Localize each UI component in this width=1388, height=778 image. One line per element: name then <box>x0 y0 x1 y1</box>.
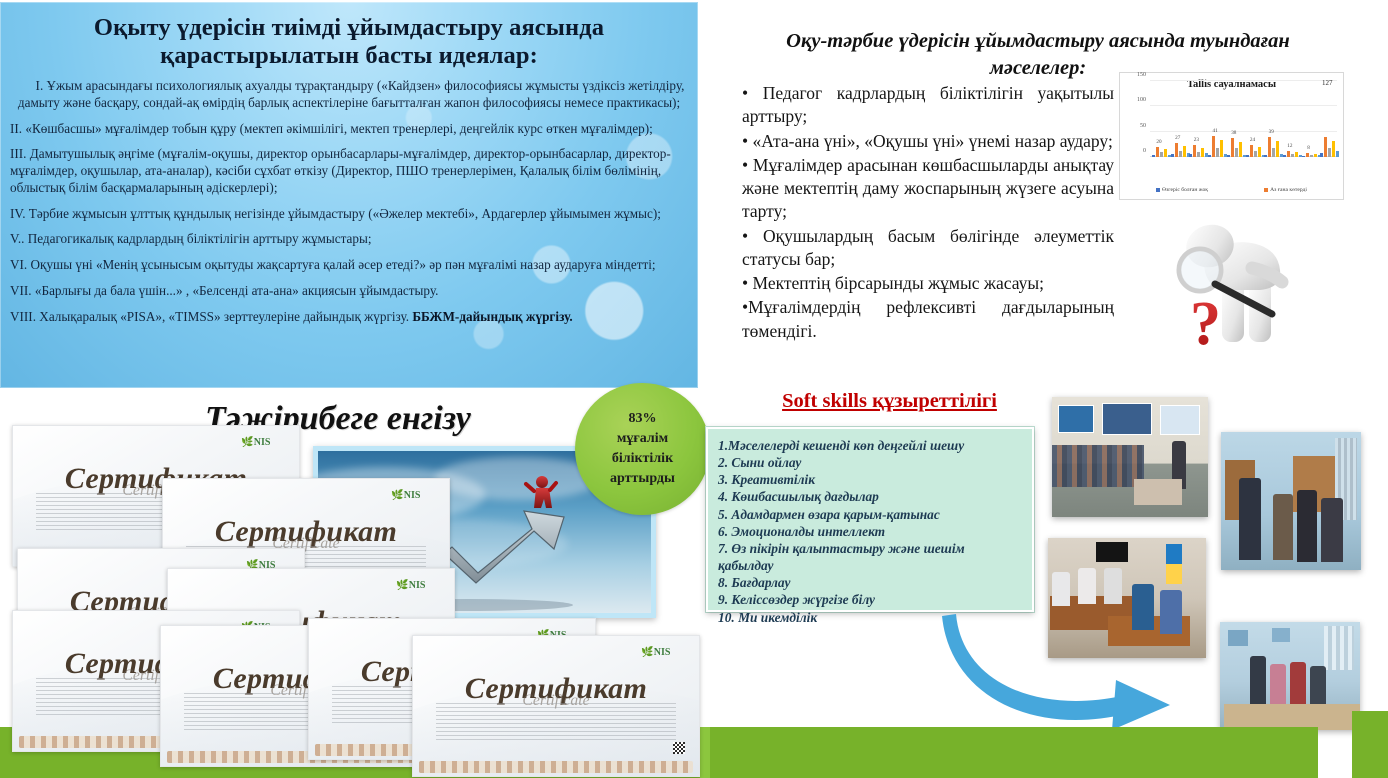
chart-data-label: 12 <box>1287 143 1292 149</box>
chart-bar <box>1175 143 1178 157</box>
main-idea-item: III. Дамытушылық әңгіме (мұғалім-оқушы, … <box>10 146 688 196</box>
chart-bar <box>1276 141 1279 157</box>
chart-bar <box>1189 154 1192 157</box>
chart-legend-item: Аз ғана көтерді <box>1264 187 1307 193</box>
chart-bar-group <box>1208 136 1227 157</box>
chart-bar <box>1332 141 1335 157</box>
slide-canvas: Оқыту үдерісін тиімді ұйымдастыру аясынд… <box>0 0 1388 778</box>
certificate-logo: 🌿NIS <box>641 647 670 658</box>
certificate-logo: 🌿NIS <box>241 437 270 448</box>
photo-classroom-discussion <box>1221 432 1361 570</box>
problem-item: • Педагог кадрлардың біліктілігін уақыты… <box>742 82 1114 129</box>
curved-arrow-icon <box>940 610 1180 735</box>
certificate-logo: 🌿NIS <box>396 580 425 591</box>
chart-y-tick: 150 <box>1137 72 1146 78</box>
certificate-ornament <box>419 761 694 773</box>
chart-bar-group <box>1283 151 1302 157</box>
chart-bar <box>1160 152 1163 157</box>
main-ideas-list: I. Ұжым арасындағы психологиялық ахуалды… <box>10 78 688 334</box>
chart-bar <box>1208 155 1211 157</box>
chart-data-label: 38 <box>1231 130 1236 136</box>
main-ideas-title: Оқыту үдерісін тиімді ұйымдастыру аясынд… <box>12 14 686 71</box>
chart-bar <box>1164 149 1167 157</box>
chart-plot-area: 20272341382439128127 <box>1150 81 1337 157</box>
chart-data-label: 23 <box>1194 137 1199 143</box>
chart-bar <box>1216 148 1219 157</box>
chart-bar-group <box>1264 137 1283 157</box>
problem-item: • Мектептің бірсарынды жұмыс жасауы; <box>742 272 1114 295</box>
main-idea-item: I. Ұжым арасындағы психологиялық ахуалды… <box>10 78 688 112</box>
chart-data-label: 8 <box>1307 145 1310 151</box>
chart-bar <box>1324 137 1327 157</box>
qr-code-icon <box>673 742 685 754</box>
main-idea-item-last: VIII. Халықаралық «PISA», «TIMSS» зертте… <box>10 309 688 326</box>
chart-data-label: 27 <box>1175 135 1180 141</box>
soft-skill-item: 1.Мәселелерді кешенді көп деңгейлі шешу <box>718 437 1022 454</box>
chart-bar <box>1246 155 1249 157</box>
chart-bar <box>1227 155 1230 157</box>
soft-skill-item: 3. Креативтілік <box>718 471 1022 488</box>
bottom-right-green-block <box>1352 711 1388 778</box>
chart-bar <box>1314 154 1317 157</box>
chart-bar <box>1254 151 1257 157</box>
svg-text:?: ? <box>1190 290 1221 358</box>
chart-bar <box>1183 146 1186 157</box>
certificate-body-text <box>436 703 676 739</box>
chart-bar <box>1179 151 1182 157</box>
soft-skills-title: Soft skills құзыреттілігі <box>757 390 1022 413</box>
chart-data-label: 24 <box>1250 137 1255 143</box>
chart-bar <box>1310 155 1313 157</box>
badge-line: 83% <box>629 409 657 429</box>
bottom-green-accent <box>700 727 710 778</box>
chart-y-tick: 100 <box>1137 97 1146 103</box>
chart-bar <box>1239 142 1242 157</box>
chart-bar-group <box>1189 145 1208 157</box>
soft-skill-item: 7. Өз пікірін қалыптастыру және шешім қа… <box>718 540 1022 574</box>
main-ideas-panel: Оқыту үдерісін тиімді ұйымдастыру аясынд… <box>0 2 698 388</box>
badge-line: арттырды <box>610 469 675 489</box>
chart-bar-group <box>1246 145 1265 157</box>
chart-bar <box>1264 155 1267 157</box>
chart-bar <box>1197 152 1200 157</box>
photo-assembly-hall <box>1052 397 1208 517</box>
soft-skills-list: 1.Мәселелерді кешенді көп деңгейлі шешу … <box>718 437 1022 626</box>
chart-y-tick: 50 <box>1140 123 1146 129</box>
chart-bar <box>1287 151 1290 157</box>
chart-bar-group <box>1320 137 1339 157</box>
main-idea-item: II. «Көшбасшы» мұғалімдер тобын құру (ме… <box>10 121 688 138</box>
chart-bar <box>1235 148 1238 157</box>
problem-item: • Мұғалімдер арасынан көшбасшыларды анық… <box>742 154 1114 224</box>
tallis-survey-chart: Tallis сауалнамасы 050100150 20272341382… <box>1119 72 1344 200</box>
main-idea-item: VII. «Барлығы да бала үшін...» , «Белсен… <box>10 283 688 300</box>
chart-bar <box>1231 138 1234 157</box>
chart-bar <box>1268 137 1271 157</box>
main-idea-item: IV. Тәрбие жұмысын ұлттық құндылық негіз… <box>10 206 688 223</box>
main-idea-item: VI. Оқушы үні «Менің ұсынысым оқытуды жа… <box>10 257 688 274</box>
chart-bar <box>1156 147 1159 157</box>
legend-label: Өзгеріс болған жоқ <box>1162 187 1208 193</box>
chart-gridline <box>1150 131 1337 132</box>
photo-classroom-lesson <box>1220 622 1360 730</box>
certificate-card: 🌿NISСертификатCertificate <box>412 635 700 777</box>
chart-bar-group <box>1152 147 1171 157</box>
soft-skill-item: 4. Көшбасшылық дағдылар <box>718 488 1022 505</box>
soft-skill-item: 2. Сыни ойлау <box>718 454 1022 471</box>
soft-skill-item: 6. Эмоционалды интеллект <box>718 523 1022 540</box>
chart-bar <box>1250 145 1253 157</box>
teacher-qualification-badge: 83% мұғалім біліктілік арттырды <box>575 383 710 515</box>
chart-y-axis: 050100150 <box>1122 81 1148 157</box>
chart-bar <box>1272 148 1275 157</box>
chart-bar-group <box>1227 138 1246 157</box>
chart-bar <box>1320 153 1323 157</box>
chart-data-label: 39 <box>1269 129 1274 135</box>
main-idea-extra-note: ББЖМ-дайындық жүргізу. <box>412 309 572 324</box>
legend-swatch-icon <box>1264 188 1268 192</box>
chart-bar <box>1295 152 1298 157</box>
chart-bar-group <box>1171 143 1190 157</box>
chart-bar <box>1220 140 1223 157</box>
soft-skills-box: 1.Мәселелерді кешенді көп деңгейлі шешу … <box>706 427 1034 612</box>
chart-gridline <box>1150 105 1337 106</box>
main-idea-item-text: VIII. Халықаралық «PISA», «TIMSS» зертте… <box>10 309 409 324</box>
magnifier-figure-icon: ? <box>1152 210 1312 362</box>
chart-legend-item: Өзгеріс болған жоқ <box>1156 187 1208 193</box>
problem-item: • «Ата-ана үні», «Оқушы үні» үнемі назар… <box>742 130 1114 153</box>
badge-line: мұғалім <box>617 429 668 449</box>
badge-line: біліктілік <box>612 449 673 469</box>
chart-data-label: 41 <box>1213 128 1218 134</box>
soft-skill-item: 8. Бағдарлау <box>718 574 1022 591</box>
problem-item: • Оқушылардың басым бөлігінде әлеуметтік… <box>742 225 1114 272</box>
chart-bar <box>1171 154 1174 157</box>
soft-skill-item: 5. Адамдармен өзара қарым-қатынас <box>718 506 1022 523</box>
chart-bar <box>1193 145 1196 157</box>
chart-bar <box>1152 155 1155 157</box>
chart-bar <box>1291 154 1294 157</box>
certificate-logo: 🌿NIS <box>391 490 420 501</box>
chart-bar <box>1212 136 1215 157</box>
chart-legend: Өзгеріс болған жоқАз ғана көтерді <box>1128 187 1335 193</box>
main-idea-item: V.. Педагогикалық кадрлардың біліктілігі… <box>10 231 688 248</box>
legend-swatch-icon <box>1156 188 1160 192</box>
problems-list: • Педагог кадрлардың біліктілігін уақыты… <box>742 82 1114 344</box>
legend-label: Аз ғана көтерді <box>1270 187 1307 193</box>
chart-bar <box>1283 155 1286 157</box>
chart-bar <box>1336 151 1339 157</box>
chart-y-tick: 0 <box>1143 148 1146 154</box>
chart-bar <box>1201 148 1204 157</box>
chart-data-label: 20 <box>1156 139 1161 145</box>
soft-skill-item: 9. Келіссөздер жүргізе білу <box>718 591 1022 608</box>
chart-bar <box>1306 153 1309 157</box>
chart-gridline <box>1150 80 1337 81</box>
chart-data-label: 127 <box>1322 79 1333 87</box>
chart-bar <box>1258 147 1261 157</box>
problem-item: •Мұғалімдердің рефлексивті дағдыларының … <box>742 296 1114 343</box>
chart-bar-group <box>1302 153 1321 157</box>
chart-bar <box>1328 148 1331 157</box>
chart-bar <box>1302 156 1305 157</box>
